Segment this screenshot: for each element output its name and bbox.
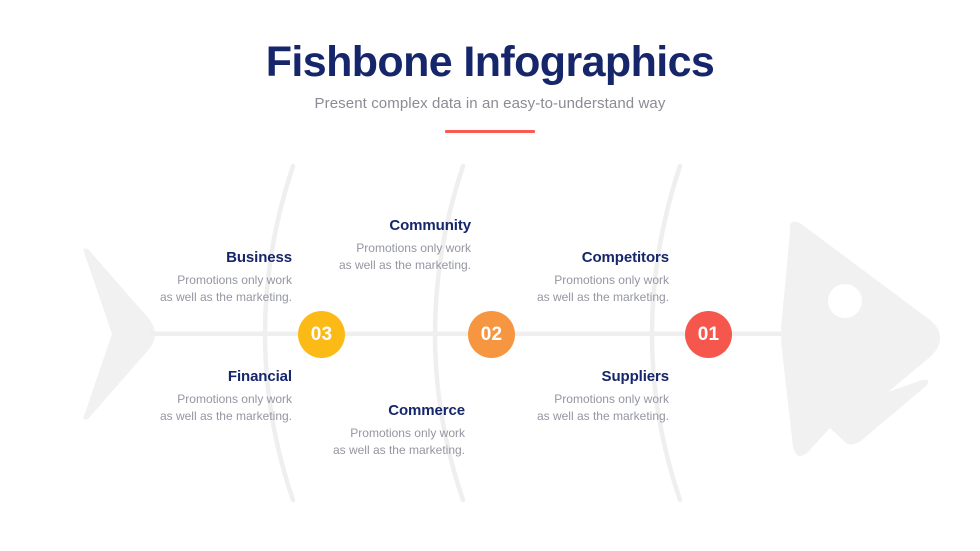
callout-business-body: Promotions only work as well as the mark… [87, 272, 292, 307]
node-badge-03-label: 03 [311, 324, 333, 346]
callout-commerce[interactable]: Commerce Promotions only work as well as… [260, 402, 465, 460]
callout-competitors[interactable]: Competitors Promotions only work as well… [464, 249, 669, 307]
callout-community-body: Promotions only work as well as the mark… [266, 240, 471, 275]
callout-suppliers[interactable]: Suppliers Promotions only work as well a… [464, 368, 669, 426]
fishbone-diagram: 03 02 01 Business Promotions only work a… [0, 0, 980, 551]
node-badge-03[interactable]: 03 [298, 311, 345, 358]
node-badge-02-label: 02 [481, 324, 503, 346]
node-badge-02[interactable]: 02 [468, 311, 515, 358]
callout-community[interactable]: Community Promotions only work as well a… [266, 217, 471, 275]
node-badge-01-label: 01 [698, 324, 720, 346]
callout-competitors-title: Competitors [464, 249, 669, 268]
callout-competitors-body: Promotions only work as well as the mark… [464, 272, 669, 307]
callout-commerce-body: Promotions only work as well as the mark… [260, 425, 465, 460]
callout-business-title: Business [87, 249, 292, 268]
fish-head-shape [781, 222, 940, 456]
callout-financial-title: Financial [87, 368, 292, 387]
callout-commerce-title: Commerce [260, 402, 465, 421]
callout-business[interactable]: Business Promotions only work as well as… [87, 249, 292, 307]
callout-suppliers-body: Promotions only work as well as the mark… [464, 391, 669, 426]
callout-suppliers-title: Suppliers [464, 368, 669, 387]
callout-community-title: Community [266, 217, 471, 236]
fish-eye-icon [828, 284, 862, 318]
node-badge-01[interactable]: 01 [685, 311, 732, 358]
